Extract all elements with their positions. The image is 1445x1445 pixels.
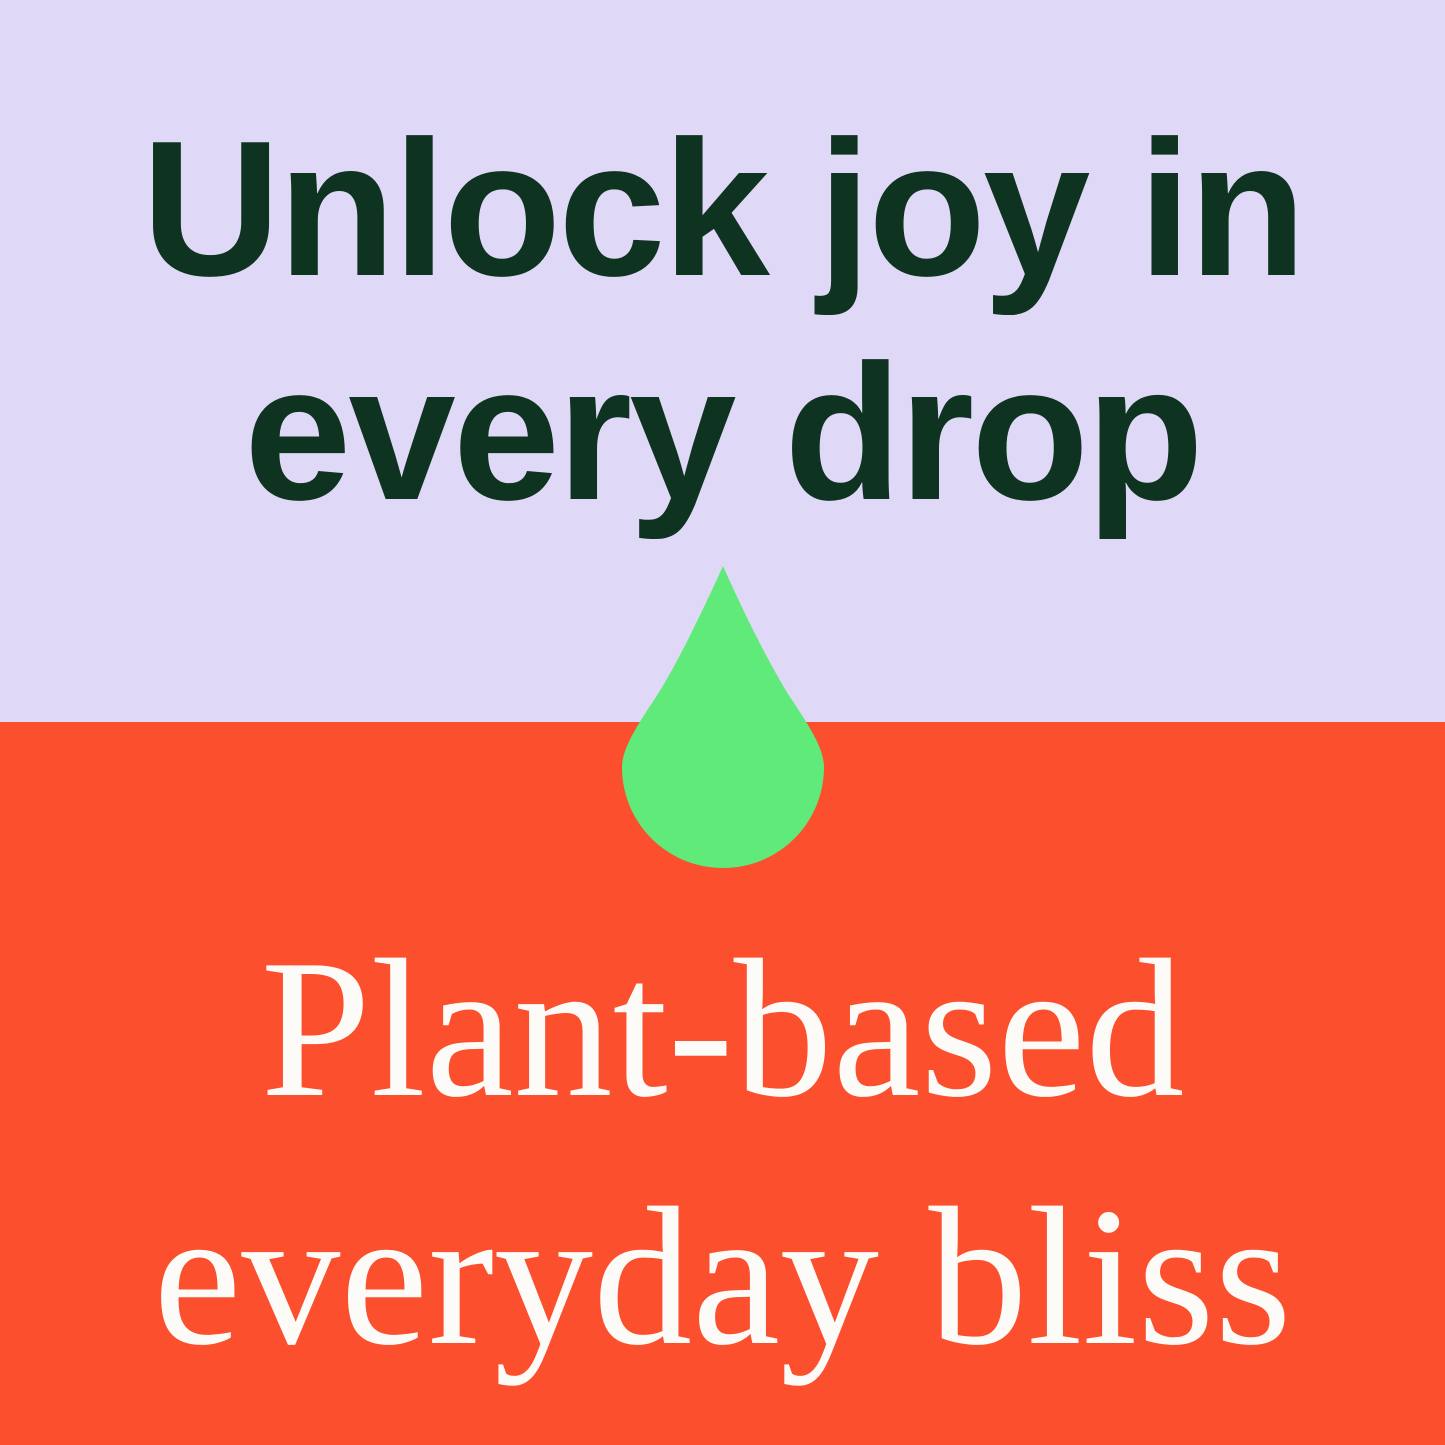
headline-line-1: Unlock joy in	[0, 96, 1445, 320]
promotional-poster: Unlock joy in every drop Plant-based eve…	[0, 0, 1445, 1445]
headline: Unlock joy in every drop	[0, 96, 1445, 544]
subheadline: Plant-based everyday bliss	[0, 905, 1445, 1401]
subheadline-line-1: Plant-based	[0, 905, 1445, 1153]
subheadline-line-2: everyday bliss	[0, 1153, 1445, 1401]
headline-line-2: every drop	[0, 320, 1445, 544]
water-drop-icon	[622, 566, 824, 868]
